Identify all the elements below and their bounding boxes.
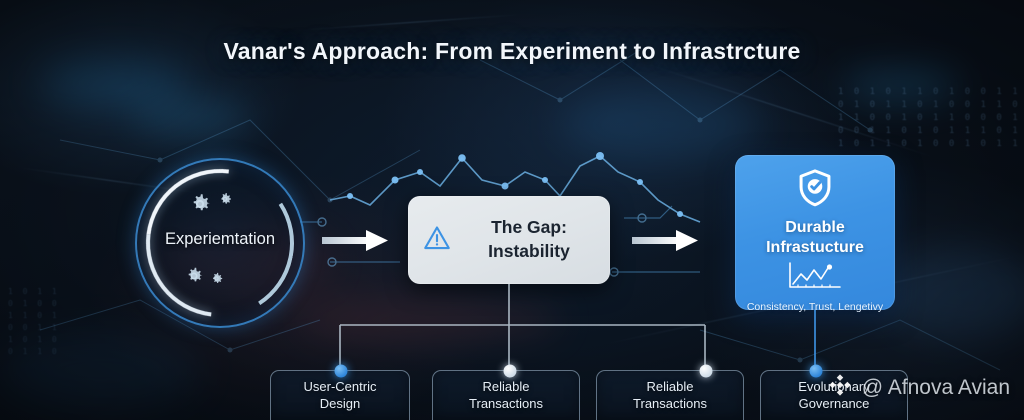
bg-glow bbox=[0, 330, 200, 410]
gap-label-line1: The Gap: bbox=[491, 217, 567, 237]
binary-texture: 1 0 1 1 0 1 0 0 1 1 0 1 0 0 1 1 1 0 1 0 … bbox=[8, 286, 59, 358]
pillar-box-user-centric-design[interactable]: User-Centric Design bbox=[270, 370, 410, 420]
bg-glow bbox=[300, 300, 560, 340]
infrastructure-subtitle: Consistency, Trust, Lengetivy bbox=[747, 301, 883, 313]
stage-experimentation[interactable]: Experiemtation bbox=[135, 158, 305, 328]
pillar-box-evolutionary-governance[interactable]: Evolutionary Governance bbox=[760, 370, 908, 420]
bg-glow bbox=[40, 60, 190, 106]
pillar-label: Evolutionary Governance bbox=[798, 379, 870, 413]
pillar-box-reliable-transactions-1[interactable]: Reliable Transactions bbox=[432, 370, 580, 420]
pillar-label: Reliable Transactions bbox=[633, 379, 707, 413]
infrastructure-title: Durable Infrastucture bbox=[766, 218, 864, 257]
pillar-label: User-Centric Design bbox=[304, 379, 377, 413]
infrastructure-title-line1: Durable bbox=[785, 219, 845, 236]
pillar-label-line2: Governance bbox=[799, 396, 870, 411]
bg-glow bbox=[880, 250, 1024, 340]
pillar-label-line2: Transactions bbox=[633, 396, 707, 411]
pillar-label: Reliable Transactions bbox=[469, 379, 543, 413]
infrastructure-title-line2: Infrastucture bbox=[766, 239, 864, 256]
bg-streak bbox=[300, 14, 520, 30]
pillar-label-line1: Reliable bbox=[647, 379, 694, 394]
infographic-canvas: 1 0 1 0 1 1 0 1 0 0 1 1 0 0 1 0 0 1 0 1 … bbox=[0, 0, 1024, 420]
pillar-label-line1: Reliable bbox=[483, 379, 530, 394]
pillar-label-line2: Design bbox=[320, 396, 360, 411]
shield-check-icon bbox=[796, 167, 834, 214]
stage-durable-infrastructure[interactable]: Durable Infrastucture Consistency, Trust… bbox=[735, 155, 895, 310]
pillar-label-line2: Transactions bbox=[469, 396, 543, 411]
connector-dot bbox=[810, 365, 823, 378]
pillar-box-reliable-transactions-2[interactable]: Reliable Transactions bbox=[596, 370, 744, 420]
connector-dot bbox=[700, 365, 713, 378]
growth-chart-icon bbox=[784, 260, 846, 297]
gears-icon bbox=[183, 258, 225, 287]
stage-the-gap[interactable]: The Gap: Instability bbox=[408, 196, 610, 284]
gears-icon bbox=[187, 190, 234, 217]
connector-dot bbox=[335, 365, 348, 378]
gap-label-line2: Instability bbox=[462, 240, 596, 264]
bg-glow bbox=[840, 70, 960, 100]
warning-triangle-icon bbox=[422, 223, 452, 258]
binary-texture: 1 0 1 0 1 1 0 1 0 0 1 1 0 0 1 0 0 1 0 1 … bbox=[838, 86, 1024, 151]
bg-glow bbox=[130, 100, 250, 134]
connector-dot bbox=[504, 365, 517, 378]
pillar-label-line1: Evolutionary bbox=[798, 379, 870, 394]
arrow-right-icon bbox=[322, 228, 394, 259]
gap-label: The Gap: Instability bbox=[462, 216, 596, 263]
bg-glow bbox=[560, 90, 760, 160]
page-title: Vanar's Approach: From Experiment to Inf… bbox=[0, 38, 1024, 65]
bg-streak bbox=[647, 64, 933, 158]
experimentation-label: Experiemtation bbox=[135, 230, 305, 249]
pillar-label-line1: User-Centric bbox=[304, 379, 377, 394]
arrow-right-icon bbox=[632, 228, 704, 259]
